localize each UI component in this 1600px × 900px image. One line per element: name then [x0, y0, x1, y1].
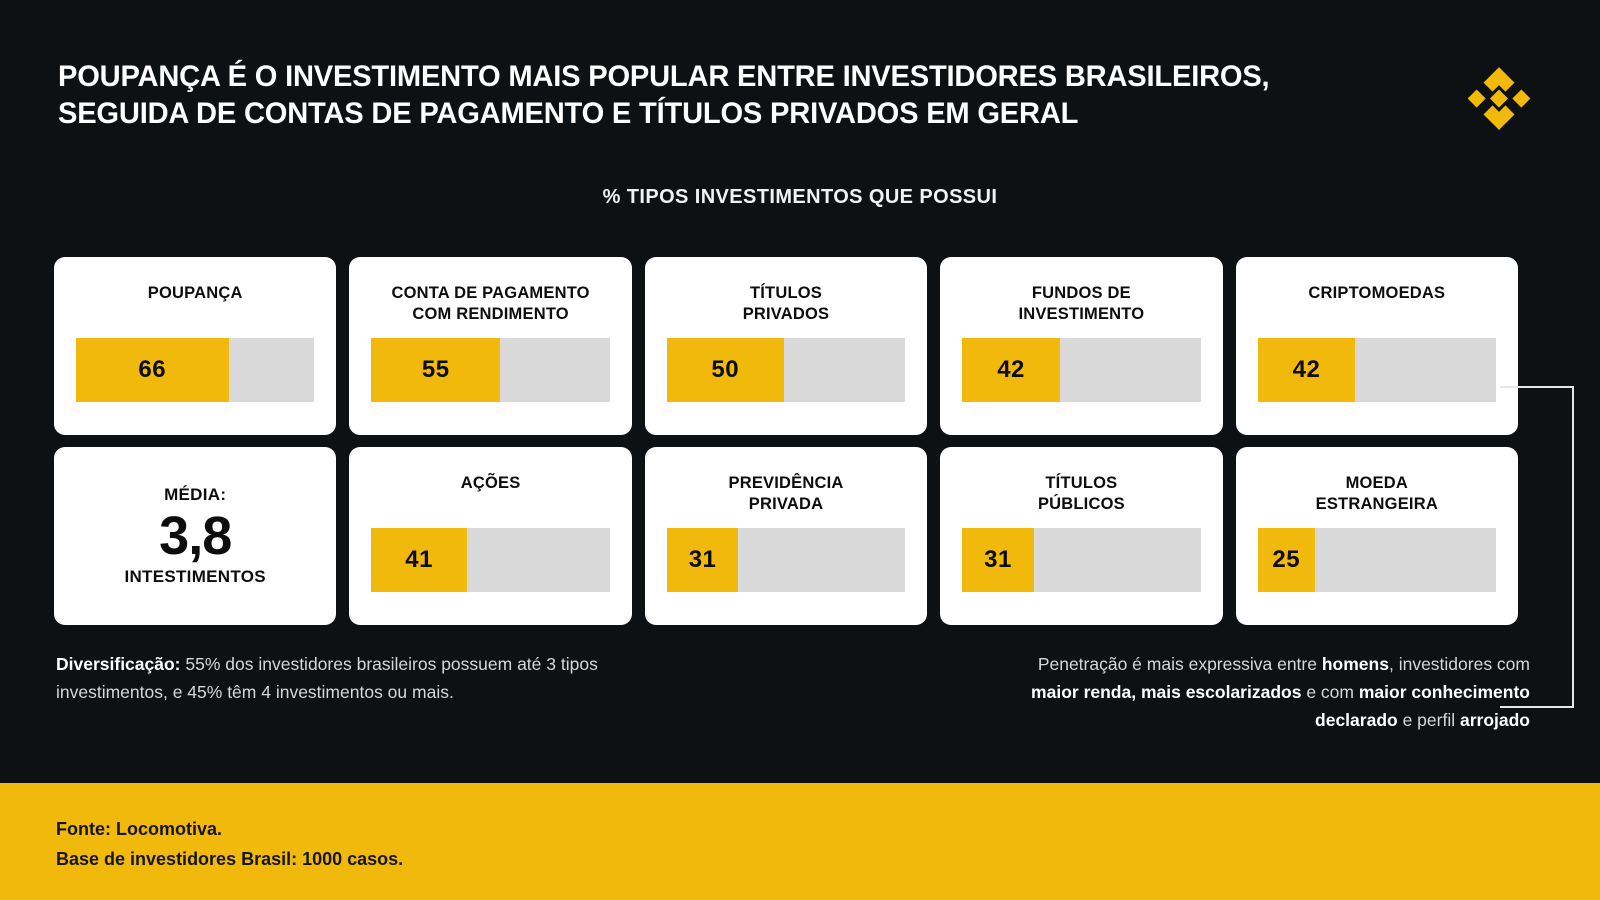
card-fundos-de-investimento: FUNDOS DE INVESTIMENTO 42 — [940, 257, 1222, 435]
bar-chart: 31 — [667, 528, 905, 592]
card-title-line-1: PREVIDÊNCIA — [729, 474, 844, 492]
bar-fill: 42 — [1258, 338, 1356, 402]
note-right-text-2: , investidores com — [1389, 654, 1530, 674]
bar-value: 31 — [962, 546, 1034, 574]
bar-value: 41 — [371, 546, 466, 574]
card-title: POUPANÇA — [148, 283, 243, 304]
bar-value: 42 — [1258, 356, 1356, 384]
bar-fill: 66 — [76, 338, 229, 402]
card-title: MOEDA ESTRANGEIRA — [1316, 473, 1438, 515]
note-penetracao: Penetração é mais expressiva entre homen… — [990, 650, 1530, 734]
bar-fill: 55 — [371, 338, 500, 402]
card-title-line-2: PÚBLICOS — [1038, 495, 1125, 513]
page-title-line-1: POUPANÇA É O INVESTIMENTO MAIS POPULAR E… — [58, 58, 1348, 95]
bar-value: 50 — [667, 356, 784, 384]
page-title: POUPANÇA É O INVESTIMENTO MAIS POPULAR E… — [58, 58, 1348, 132]
card-title-line-1: MOEDA — [1346, 474, 1408, 492]
card-title: CONTA DE PAGAMENTO COM RENDIMENTO — [391, 283, 589, 325]
card-criptomoedas: CRIPTOMOEDAS 42 — [1236, 257, 1518, 435]
bar-value: 66 — [76, 356, 229, 384]
bar-fill: 50 — [667, 338, 784, 402]
page-title-line-2: SEGUIDA DE CONTAS DE PAGAMENTO E TÍTULOS… — [58, 95, 1348, 132]
card-title-line-1: TÍTULOS — [750, 284, 822, 302]
note-left-bold: Diversificação: — [56, 654, 181, 674]
card-titulos-publicos: TÍTULOS PÚBLICOS 31 — [940, 447, 1222, 625]
card-title: CRIPTOMOEDAS — [1308, 283, 1445, 304]
header: POUPANÇA É O INVESTIMENTO MAIS POPULAR E… — [58, 58, 1538, 132]
card-title-line-2: ESTRANGEIRA — [1316, 495, 1438, 513]
bar-value: 42 — [962, 356, 1060, 384]
card-title: PREVIDÊNCIA PRIVADA — [729, 473, 844, 515]
footer-band: Fonte: Locomotiva. Base de investidores … — [0, 783, 1600, 900]
bar-chart: 41 — [371, 528, 609, 592]
card-title-line-2: PRIVADOS — [743, 305, 830, 323]
card-acoes: AÇÕES 41 — [349, 447, 631, 625]
bar-chart: 31 — [962, 528, 1200, 592]
cards-grid: POUPANÇA 66 CONTA DE PAGAMENTO COM RENDI… — [54, 257, 1518, 625]
note-diversificacao: Diversificação: 55% dos investidores bra… — [56, 650, 656, 706]
card-title-line-1: CONTA DE PAGAMENTO — [391, 284, 589, 302]
bar-fill: 41 — [371, 528, 466, 592]
card-title-line-2: INVESTIMENTO — [1018, 305, 1144, 323]
card-media: MÉDIA: 3,8 INTESTIMENTOS — [54, 447, 336, 625]
chart-subtitle: % TIPOS INVESTIMENTOS QUE POSSUI — [0, 186, 1600, 209]
note-right-bold-2: maior renda, mais escolarizados — [1031, 682, 1301, 702]
bar-fill: 42 — [962, 338, 1060, 402]
bar-fill: 25 — [1258, 528, 1315, 592]
average-unit: INTESTIMENTOS — [124, 567, 266, 587]
bar-chart: 42 — [1258, 338, 1496, 402]
card-title: FUNDOS DE INVESTIMENTO — [1018, 283, 1144, 325]
bar-chart: 66 — [76, 338, 314, 402]
bar-fill: 31 — [962, 528, 1034, 592]
note-right-bold-1: homens — [1322, 654, 1389, 674]
card-title-line-1: FUNDOS DE — [1032, 284, 1131, 302]
note-right-text-1: Penetração é mais expressiva entre — [1038, 654, 1322, 674]
card-title-line-2: PRIVADA — [749, 495, 823, 513]
card-title-line-1: TÍTULOS — [1045, 474, 1117, 492]
bar-value: 31 — [667, 546, 739, 574]
bar-chart: 42 — [962, 338, 1200, 402]
card-moeda-estrangeira: MOEDA ESTRANGEIRA 25 — [1236, 447, 1518, 625]
note-right-text-4: e perfil — [1398, 710, 1460, 730]
footer-source: Fonte: Locomotiva. — [56, 814, 403, 844]
bar-fill: 31 — [667, 528, 739, 592]
binance-logo-icon — [1456, 62, 1542, 148]
card-title: TÍTULOS PRIVADOS — [743, 283, 830, 325]
average-label: MÉDIA: — [164, 485, 226, 505]
note-right-text-3: e com — [1301, 682, 1358, 702]
card-previdencia-privada: PREVIDÊNCIA PRIVADA 31 — [645, 447, 927, 625]
footer-base: Base de investidores Brasil: 1000 casos. — [56, 844, 403, 874]
infographic-page: POUPANÇA É O INVESTIMENTO MAIS POPULAR E… — [0, 0, 1600, 900]
card-title: TÍTULOS PÚBLICOS — [1038, 473, 1125, 515]
bar-value: 25 — [1258, 546, 1315, 574]
footer-text: Fonte: Locomotiva. Base de investidores … — [56, 814, 403, 874]
card-title: AÇÕES — [461, 473, 521, 494]
bar-chart: 50 — [667, 338, 905, 402]
card-titulos-privados: TÍTULOS PRIVADOS 50 — [645, 257, 927, 435]
bar-chart: 25 — [1258, 528, 1496, 592]
bar-chart: 55 — [371, 338, 609, 402]
card-poupanca: POUPANÇA 66 — [54, 257, 336, 435]
bar-value: 55 — [371, 356, 500, 384]
note-right-bold-4: arrojado — [1460, 710, 1530, 730]
card-title-line-2: COM RENDIMENTO — [412, 305, 569, 323]
average-number: 3,8 — [159, 506, 231, 566]
card-conta-de-pagamento: CONTA DE PAGAMENTO COM RENDIMENTO 55 — [349, 257, 631, 435]
